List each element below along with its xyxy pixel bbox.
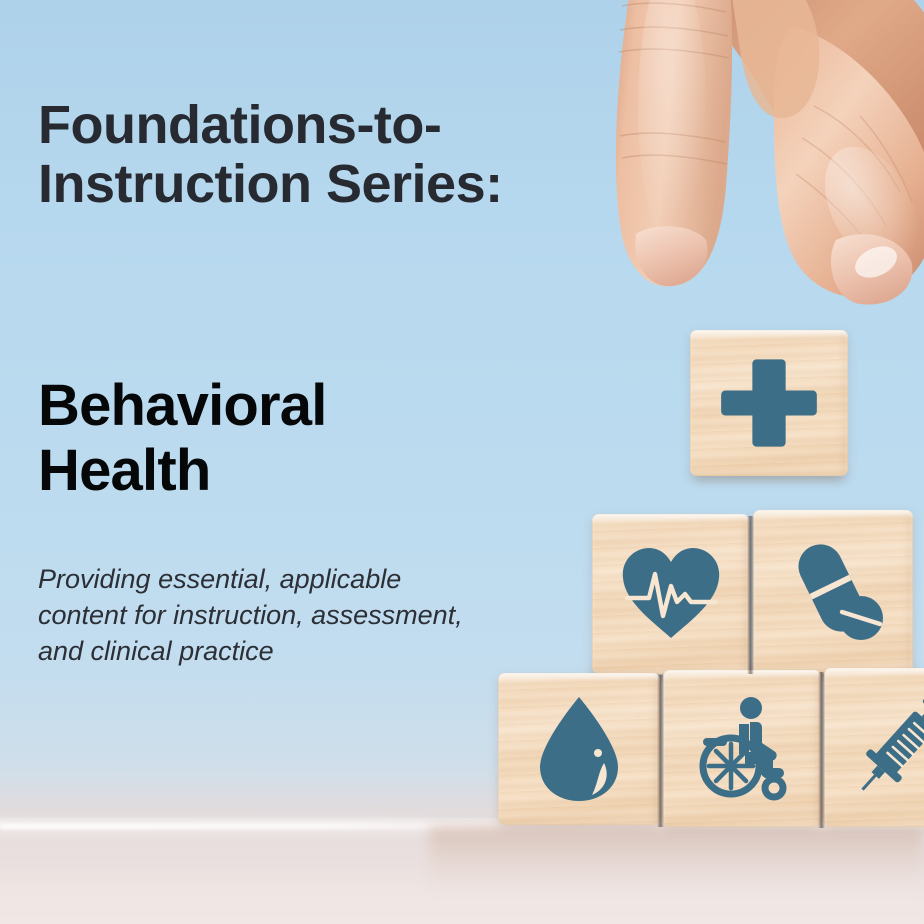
heartbeat-icon xyxy=(619,546,723,642)
wooden-block-heart xyxy=(592,514,749,674)
wooden-block-drop xyxy=(498,673,660,825)
wooden-block-pill xyxy=(753,510,913,674)
block-seam xyxy=(747,516,754,674)
middle-finger xyxy=(728,0,819,118)
page-title: Behavioral Health xyxy=(38,374,498,504)
hand-placing-block xyxy=(560,0,924,356)
water-drop-icon xyxy=(536,695,622,803)
wooden-block-syringe xyxy=(824,668,924,827)
table-shadow xyxy=(430,826,924,896)
wooden-block-cross xyxy=(690,330,848,476)
series-title: Foundations-to- Instruction Series: xyxy=(38,96,598,215)
medical-cross-icon xyxy=(717,351,821,455)
block-seam xyxy=(818,672,825,828)
syringe-icon xyxy=(844,692,924,804)
wheelchair-icon xyxy=(689,696,795,802)
block-seam xyxy=(657,675,664,827)
wooden-block-wheelchair xyxy=(663,670,821,827)
pill-capsule-icon xyxy=(781,540,885,644)
subtitle: Providing essential, applicable content … xyxy=(38,562,578,670)
poster-canvas: Foundations-to- Instruction Series: Beha… xyxy=(0,0,924,924)
